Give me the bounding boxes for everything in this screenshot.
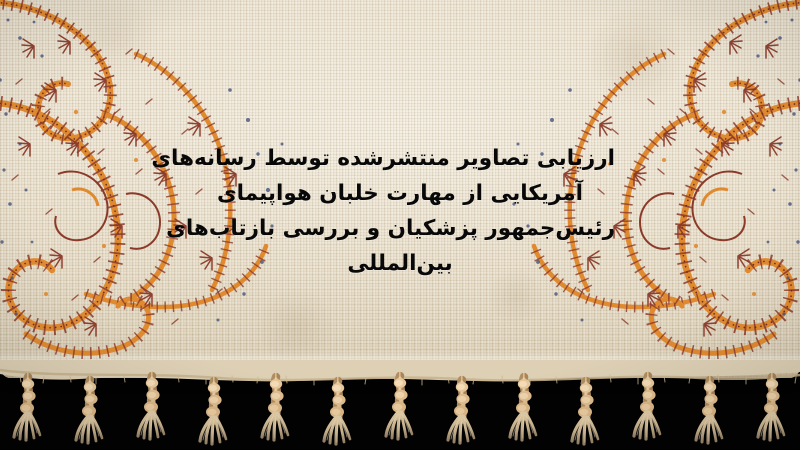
- headline-text: ارزیابی تصاویر منتشرشده توسط رسانه‌های آ…: [185, 141, 615, 281]
- cloth-hem-shadow: [0, 352, 800, 378]
- headline-line-3: رئیس‌جمهور پزشکیان و بررسی بازتاب‌های: [185, 211, 615, 246]
- headline-line-1: ارزیابی تصاویر منتشرشده توسط رسانه‌های: [185, 141, 615, 176]
- title-card-canvas: ارزیابی تصاویر منتشرشده توسط رسانه‌های آ…: [0, 0, 800, 450]
- headline-line-2: آمریکایی از مهارت خلبان هواپیمای: [185, 176, 615, 211]
- headline-line-4: بین‌المللی: [185, 246, 615, 281]
